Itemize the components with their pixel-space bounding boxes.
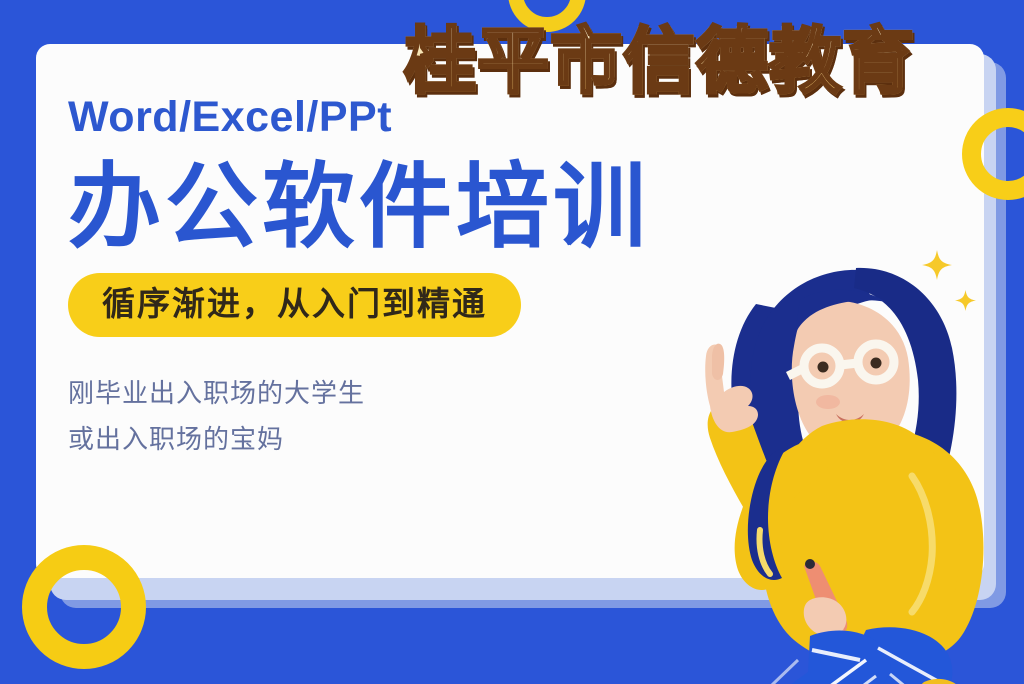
yellow-ring-bottom-left-icon	[22, 545, 146, 669]
sparkle-star-large-icon	[922, 250, 952, 280]
tagline-badge: 循序渐进，从入门到精通	[68, 273, 521, 337]
poster-canvas: Word/Excel/PPt 办公软件培训 循序渐进，从入门到精通 刚毕业出入职…	[0, 0, 1024, 684]
sparkle-star-small-icon	[955, 290, 976, 311]
watermark-brand-text: 桂平市信德教育	[404, 26, 915, 98]
subtitle-english: Word/Excel/PPt	[68, 96, 984, 139]
